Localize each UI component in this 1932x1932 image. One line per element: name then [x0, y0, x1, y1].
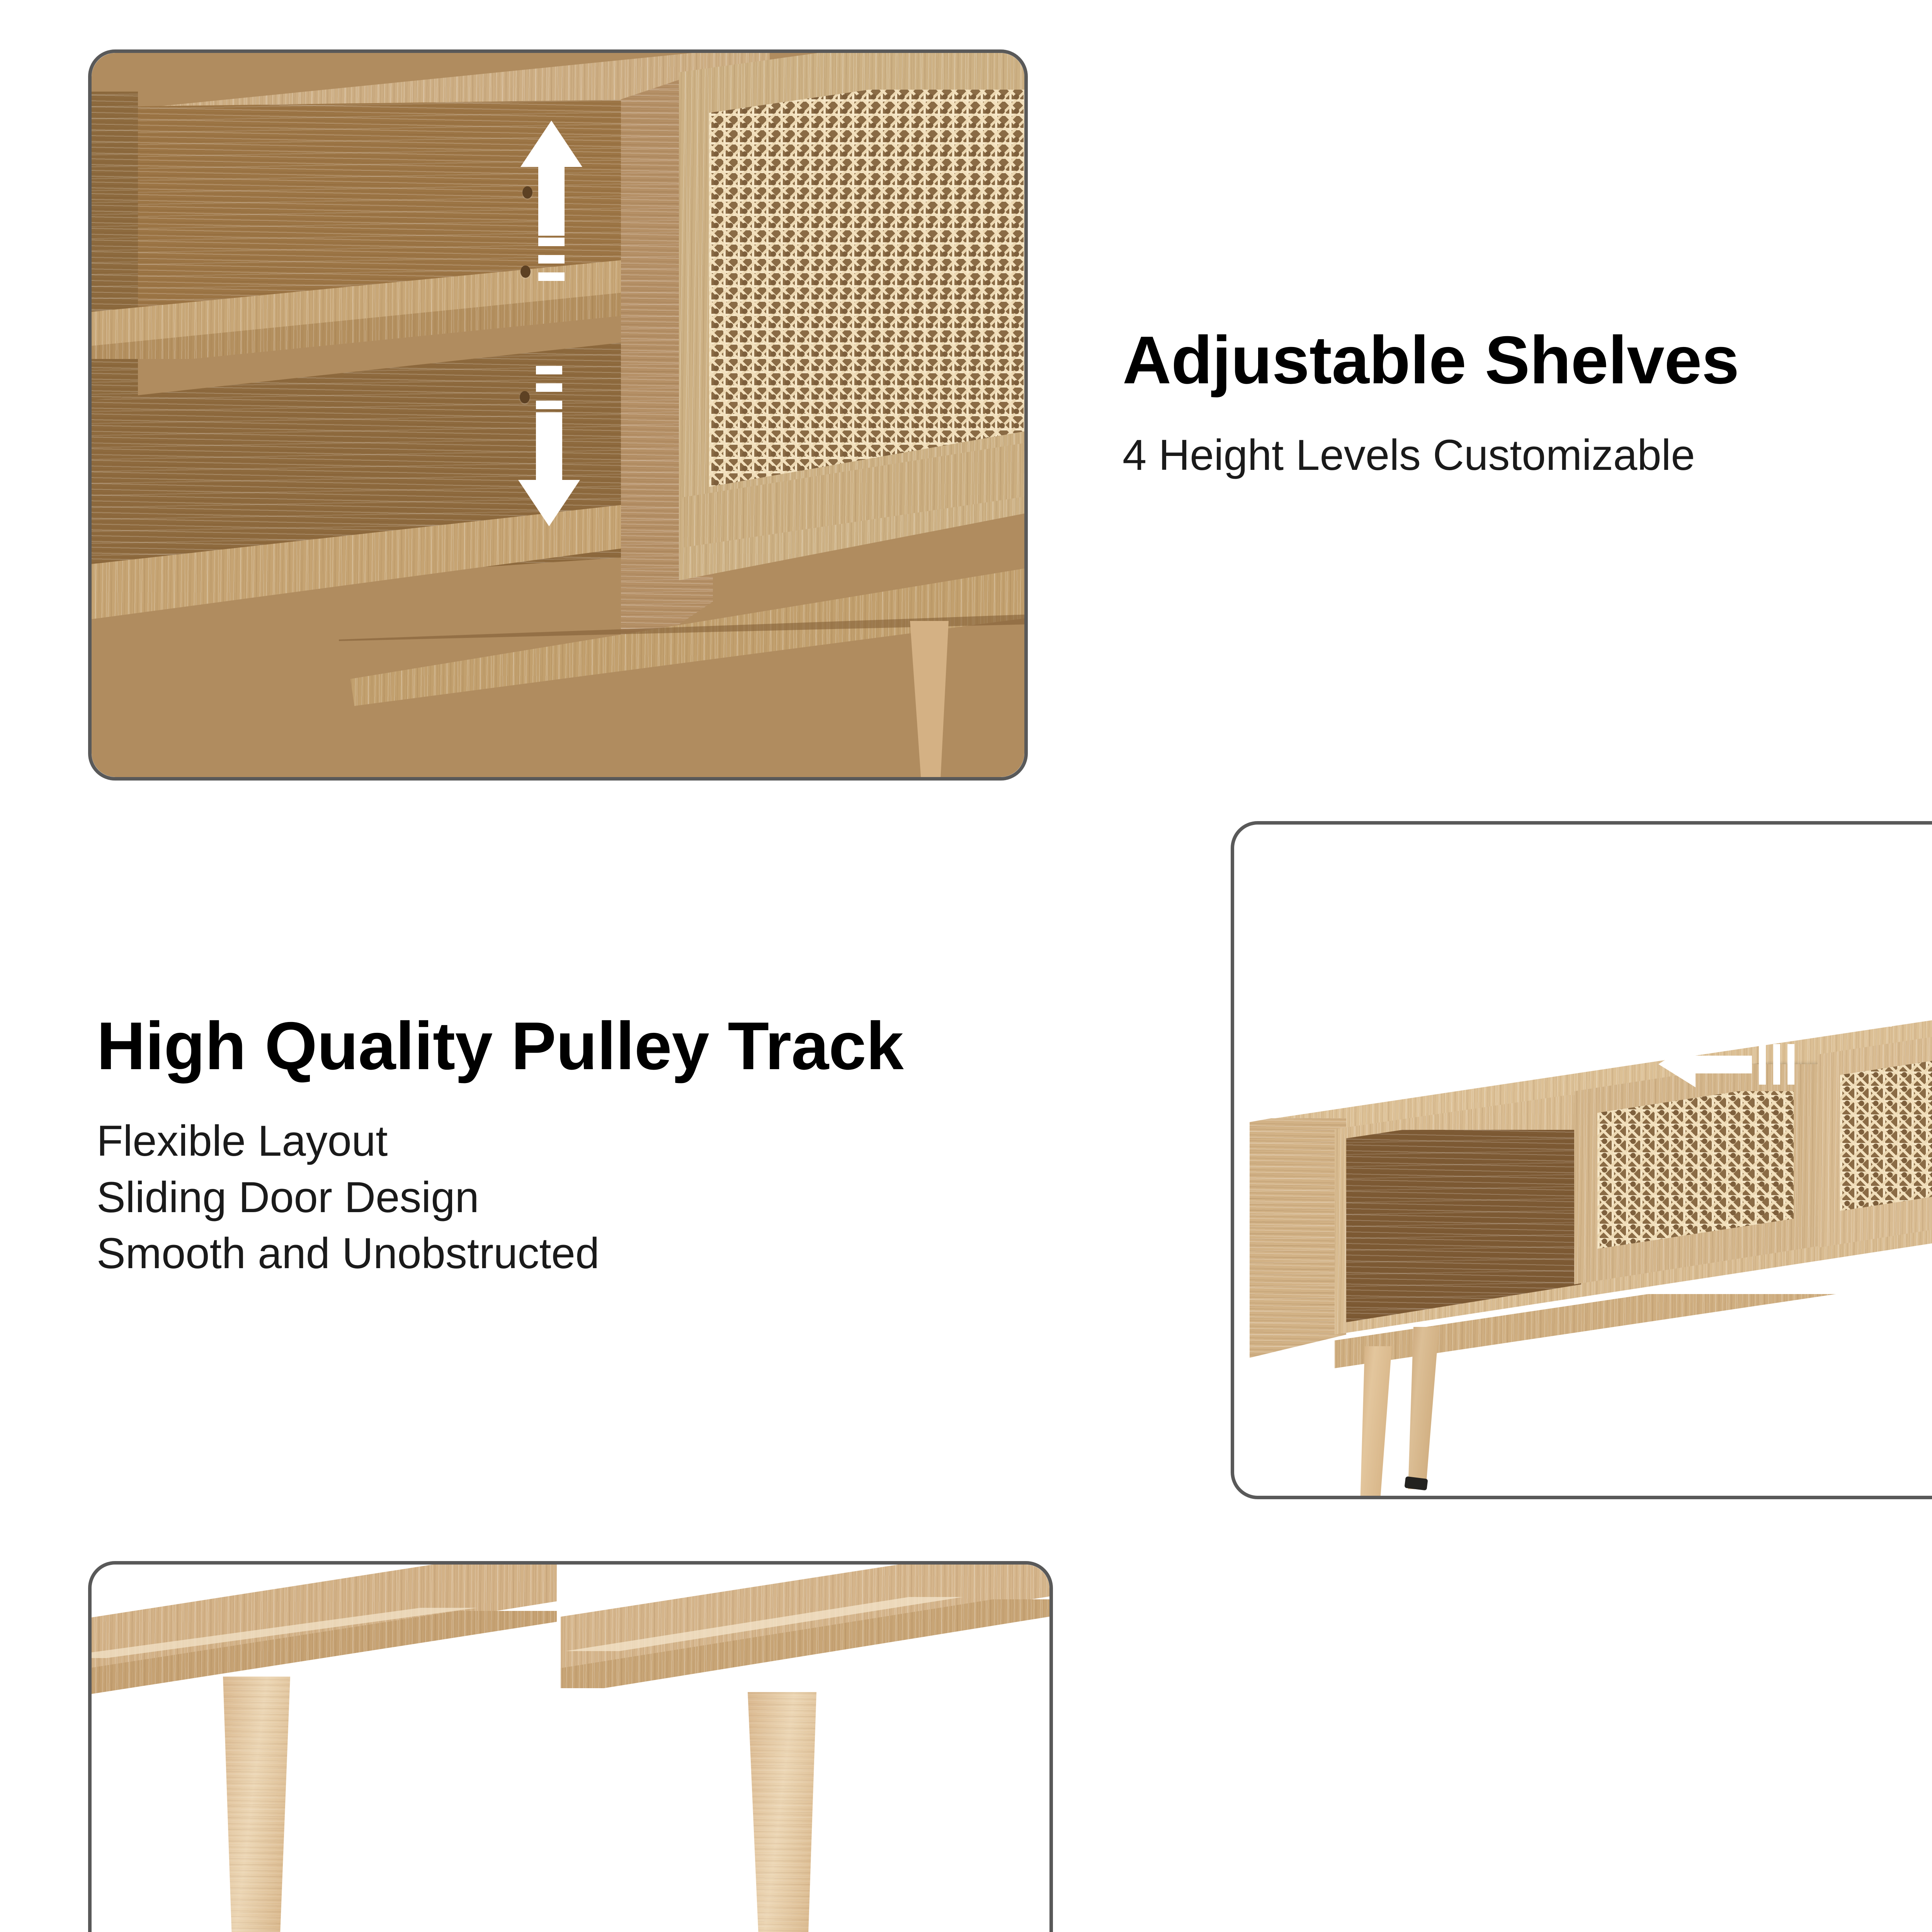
arrow-left-motion-lines [1759, 1044, 1794, 1085]
pulley-track-photo-panel [1231, 821, 1932, 1499]
strong-stability-photo [92, 1565, 1049, 1932]
leg-grain-right [702, 1692, 849, 1932]
arrow-left-head [1658, 1041, 1696, 1087]
tvstand-leg-foot [1404, 1476, 1428, 1491]
pulley-track-headline: High Quality Pulley Track [97, 1012, 903, 1080]
arrow-down-motion-lines [536, 366, 562, 409]
arrow-down-head [518, 480, 580, 526]
strong-stability-photo-panel [88, 1561, 1053, 1932]
shelf-peg-hole [520, 391, 530, 403]
shelf-peg-hole [520, 265, 531, 278]
arrow-down-shaft [536, 412, 562, 482]
arrow-left-shaft [1694, 1056, 1752, 1073]
arrow-right-icon [1896, 983, 1932, 1029]
adjustable-shelves-photo [92, 53, 1024, 777]
arrow-right-motion-lines [1856, 986, 1892, 1027]
tvstand-leg [1350, 1346, 1396, 1496]
cabinet-leg [903, 621, 953, 777]
arrow-up-motion-lines [538, 238, 565, 281]
pulley-track-subtext: Flexible Layout Sliding Door Design Smoo… [97, 1113, 599, 1282]
arrow-up-head [520, 121, 582, 167]
arrow-down-icon [518, 412, 580, 526]
leg-grain-left [177, 1677, 316, 1932]
rattan-cane-panel [709, 90, 1024, 488]
photo-split-divider [557, 1565, 561, 1762]
arrow-up-icon [520, 121, 582, 235]
arrow-right-shaft [1896, 998, 1932, 1015]
adjustable-shelves-subtext: 4 Height Levels Customizable [1122, 427, 1695, 483]
adjustable-shelves-photo-panel [88, 49, 1028, 781]
arrow-up-shaft [538, 166, 565, 236]
tvstand-left-end-panel [1250, 1118, 1346, 1358]
pulley-track-photo [1234, 825, 1932, 1496]
arrow-left-icon [1658, 1041, 1755, 1087]
adjustable-shelves-headline: Adjustable Shelves [1122, 327, 1739, 394]
